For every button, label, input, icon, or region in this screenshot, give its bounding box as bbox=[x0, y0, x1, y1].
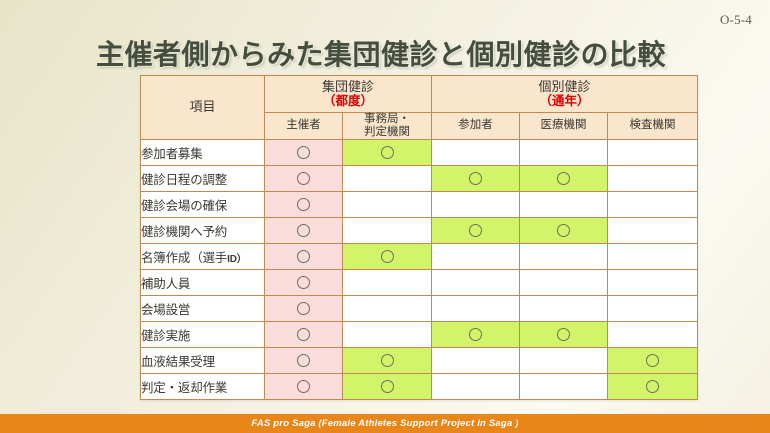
header-group-kobetsu-name: 個別健診 bbox=[432, 80, 697, 94]
header-col-jimukyoku: 事務局・ 判定機関 bbox=[343, 113, 432, 140]
header-group-shudan-paren: （都度） bbox=[265, 95, 431, 108]
cell-marked bbox=[265, 243, 343, 269]
cell-empty bbox=[343, 269, 432, 295]
cell-marked bbox=[432, 217, 520, 243]
circle-mark-icon bbox=[557, 172, 570, 185]
cell-marked bbox=[265, 217, 343, 243]
cell-marked bbox=[343, 347, 432, 373]
row-label: 会場設営 bbox=[141, 295, 265, 321]
cell-empty bbox=[608, 321, 698, 347]
row-label: 血液結果受理 bbox=[141, 347, 265, 373]
table-row: 健診機関へ予約 bbox=[141, 217, 698, 243]
cell-marked bbox=[432, 321, 520, 347]
cell-empty bbox=[343, 295, 432, 321]
header-col-kensakikan-l1: 検査機関 bbox=[608, 119, 697, 132]
cell-empty bbox=[520, 191, 608, 217]
header-col-iryokikan-l1: 医療機関 bbox=[520, 119, 607, 132]
cell-marked bbox=[520, 217, 608, 243]
header-col-shusaisha: 主催者 bbox=[265, 113, 343, 140]
row-label: 名簿作成（選手ID） bbox=[141, 243, 265, 269]
cell-empty bbox=[432, 191, 520, 217]
circle-mark-icon bbox=[469, 328, 482, 341]
cell-marked bbox=[520, 321, 608, 347]
header-col-sankasha-l1: 参加者 bbox=[432, 119, 519, 132]
header-col-jimukyoku-l1: 事務局・ bbox=[343, 113, 431, 126]
table-row: 補助人員 bbox=[141, 269, 698, 295]
cell-empty bbox=[520, 347, 608, 373]
cell-marked bbox=[265, 373, 343, 399]
table-row: 血液結果受理 bbox=[141, 347, 698, 373]
cell-empty bbox=[432, 295, 520, 321]
page-title: 主催者側からみた集団健診と個別健診の比較 bbox=[96, 33, 666, 73]
cell-marked bbox=[265, 321, 343, 347]
table-row: 会場設営 bbox=[141, 295, 698, 321]
cell-marked bbox=[343, 373, 432, 399]
row-label: 参加者募集 bbox=[141, 139, 265, 165]
cell-empty bbox=[343, 165, 432, 191]
table-body: 参加者募集健診日程の調整健診会場の確保健診機関へ予約名簿作成（選手ID）補助人員… bbox=[141, 139, 698, 399]
row-label: 補助人員 bbox=[141, 269, 265, 295]
header-group-shudan-name: 集団健診 bbox=[265, 80, 431, 94]
row-label: 健診機関へ予約 bbox=[141, 217, 265, 243]
cell-marked bbox=[265, 347, 343, 373]
table-row: 健診実施 bbox=[141, 321, 698, 347]
table-head: 項目 集団健診 （都度） 個別健診 （通年） 主催者 事務局・ bbox=[141, 76, 698, 140]
cell-empty bbox=[432, 373, 520, 399]
circle-mark-icon bbox=[381, 250, 394, 263]
footer-text: FAS pro Saga (Female Athletes Support Pr… bbox=[251, 418, 518, 429]
circle-mark-icon bbox=[297, 224, 310, 237]
cell-empty bbox=[432, 243, 520, 269]
row-label: 健診日程の調整 bbox=[141, 165, 265, 191]
slide-canvas: O-5-4 主催者側からみた集団健診と個別健診の比較 項目 集団健診 （都度） bbox=[0, 0, 770, 433]
table-header-row-groups: 項目 集団健診 （都度） 個別健診 （通年） bbox=[141, 76, 698, 113]
header-col-iryokikan: 医療機関 bbox=[520, 113, 608, 140]
circle-mark-icon bbox=[469, 172, 482, 185]
cell-empty bbox=[432, 139, 520, 165]
cell-marked bbox=[343, 243, 432, 269]
circle-mark-icon bbox=[297, 198, 310, 211]
cell-marked bbox=[520, 165, 608, 191]
cell-marked bbox=[608, 347, 698, 373]
circle-mark-icon bbox=[557, 224, 570, 237]
cell-empty bbox=[608, 139, 698, 165]
header-col-sankasha: 参加者 bbox=[432, 113, 520, 140]
cell-marked bbox=[265, 191, 343, 217]
cell-empty bbox=[608, 191, 698, 217]
table-row: 参加者募集 bbox=[141, 139, 698, 165]
circle-mark-icon bbox=[646, 380, 659, 393]
cell-marked bbox=[343, 139, 432, 165]
table-row: 判定・返却作業 bbox=[141, 373, 698, 399]
cell-empty bbox=[432, 347, 520, 373]
header-col-kensakikan: 検査機関 bbox=[608, 113, 698, 140]
row-label: 健診実施 bbox=[141, 321, 265, 347]
cell-empty bbox=[608, 217, 698, 243]
cell-empty bbox=[343, 321, 432, 347]
cell-marked bbox=[265, 295, 343, 321]
table-row: 健診会場の確保 bbox=[141, 191, 698, 217]
cell-empty bbox=[343, 217, 432, 243]
cell-empty bbox=[432, 269, 520, 295]
header-col-jimukyoku-l2: 判定機関 bbox=[343, 126, 431, 139]
circle-mark-icon bbox=[297, 172, 310, 185]
header-group-shudan: 集団健診 （都度） bbox=[265, 76, 432, 113]
circle-mark-icon bbox=[297, 354, 310, 367]
comparison-table-container: 項目 集団健診 （都度） 個別健診 （通年） 主催者 事務局・ bbox=[140, 75, 697, 400]
circle-mark-icon bbox=[297, 250, 310, 263]
table-row: 名簿作成（選手ID） bbox=[141, 243, 698, 269]
header-col-shusaisha-l1: 主催者 bbox=[265, 119, 342, 132]
cell-empty bbox=[520, 243, 608, 269]
row-label: 判定・返却作業 bbox=[141, 373, 265, 399]
circle-mark-icon bbox=[297, 146, 310, 159]
cell-marked bbox=[265, 139, 343, 165]
circle-mark-icon bbox=[297, 380, 310, 393]
comparison-table: 項目 集団健診 （都度） 個別健診 （通年） 主催者 事務局・ bbox=[140, 75, 698, 400]
cell-marked bbox=[432, 165, 520, 191]
slide-number: O-5-4 bbox=[720, 12, 752, 28]
row-label-small: ID） bbox=[227, 254, 246, 265]
cell-marked bbox=[265, 165, 343, 191]
circle-mark-icon bbox=[297, 302, 310, 315]
circle-mark-icon bbox=[381, 354, 394, 367]
header-group-kobetsu-paren: （通年） bbox=[432, 95, 697, 108]
circle-mark-icon bbox=[381, 380, 394, 393]
table-row: 健診日程の調整 bbox=[141, 165, 698, 191]
circle-mark-icon bbox=[381, 146, 394, 159]
cell-empty bbox=[520, 295, 608, 321]
cell-empty bbox=[608, 243, 698, 269]
cell-empty bbox=[608, 165, 698, 191]
cell-marked bbox=[608, 373, 698, 399]
circle-mark-icon bbox=[297, 276, 310, 289]
circle-mark-icon bbox=[646, 354, 659, 367]
circle-mark-icon bbox=[297, 328, 310, 341]
cell-empty bbox=[520, 373, 608, 399]
header-group-kobetsu: 個別健診 （通年） bbox=[432, 76, 698, 113]
cell-empty bbox=[343, 191, 432, 217]
footer-bar: FAS pro Saga (Female Athletes Support Pr… bbox=[0, 414, 770, 433]
cell-empty bbox=[608, 295, 698, 321]
circle-mark-icon bbox=[557, 328, 570, 341]
cell-marked bbox=[265, 269, 343, 295]
cell-empty bbox=[608, 269, 698, 295]
cell-empty bbox=[520, 269, 608, 295]
header-item-column: 項目 bbox=[141, 76, 265, 140]
circle-mark-icon bbox=[469, 224, 482, 237]
row-label: 健診会場の確保 bbox=[141, 191, 265, 217]
cell-empty bbox=[520, 139, 608, 165]
